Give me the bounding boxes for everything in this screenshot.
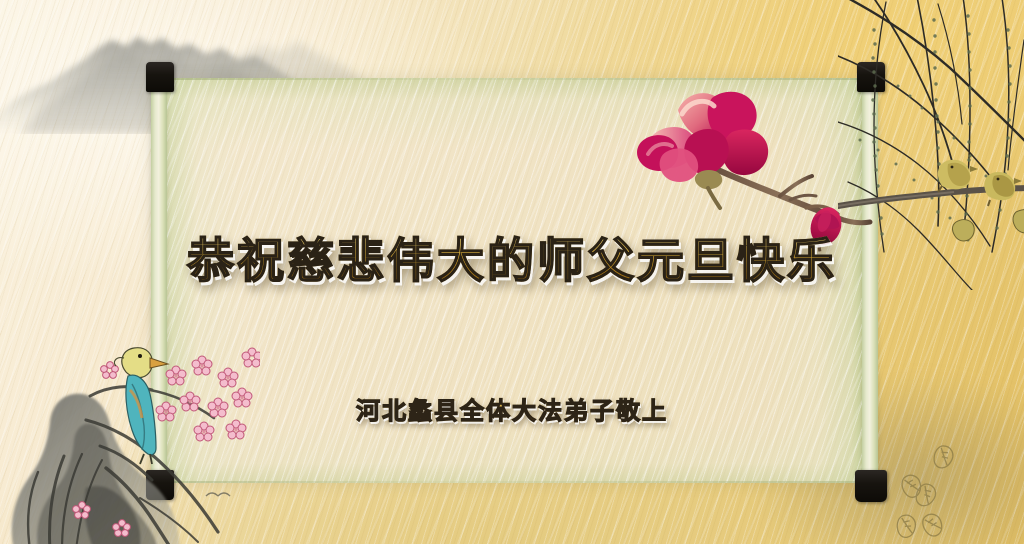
greeting-title-container: 恭祝慈悲伟大的师父元旦快乐: [0, 222, 1024, 291]
greeting-subtitle: 河北蠡县全体大法弟子敬上: [356, 391, 668, 426]
greeting-card-canvas: 恭祝慈悲伟大的师父元旦快乐 河北蠡县全体大法弟子敬上: [0, 0, 1024, 544]
scroll-cap-bottom-right: [855, 470, 887, 502]
greeting-subtitle-container: 河北蠡县全体大法弟子敬上: [0, 391, 1024, 426]
scroll-cap-top-left: [146, 62, 174, 92]
greeting-title: 恭祝慈悲伟大的师父元旦快乐: [187, 222, 837, 291]
distant-bird-icon: [206, 493, 230, 496]
floating-leaves-icon: [890, 430, 1020, 540]
